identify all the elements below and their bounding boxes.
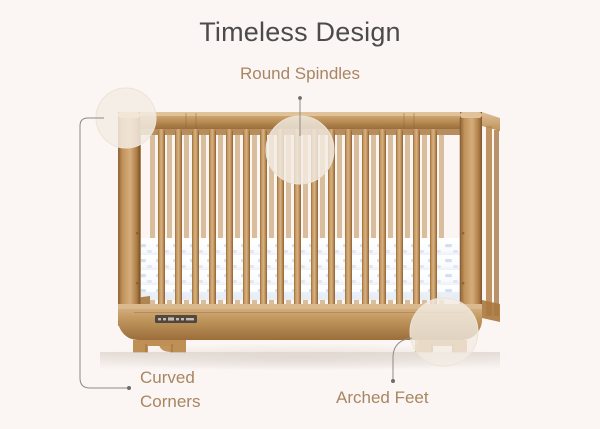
crib-corner-post-right: [460, 112, 482, 322]
callout-label-curved-corners: CurvedCorners: [140, 366, 300, 414]
highlight-circle-curved-corners: [96, 88, 156, 148]
leader-dot-arched-feet: [391, 379, 395, 383]
crib-right-side-panel: [482, 112, 500, 322]
callout-label-curved-corners-line2: Corners: [140, 392, 200, 411]
callout-label-round-spindles: Round Spindles: [0, 64, 600, 84]
leader-dot-curved-corners: [127, 386, 131, 390]
leader-dot-round-spindles: [298, 96, 302, 100]
highlight-circle-arched-feet: [410, 298, 478, 366]
design-callout-figure: Timeless Design Round Spindles CurvedCor…: [0, 0, 600, 429]
callout-label-arched-feet: Arched Feet: [336, 388, 536, 408]
callout-label-curved-corners-line1: Curved: [140, 368, 195, 387]
page-title: Timeless Design: [0, 17, 600, 48]
brand-logo-plate: [155, 315, 197, 323]
